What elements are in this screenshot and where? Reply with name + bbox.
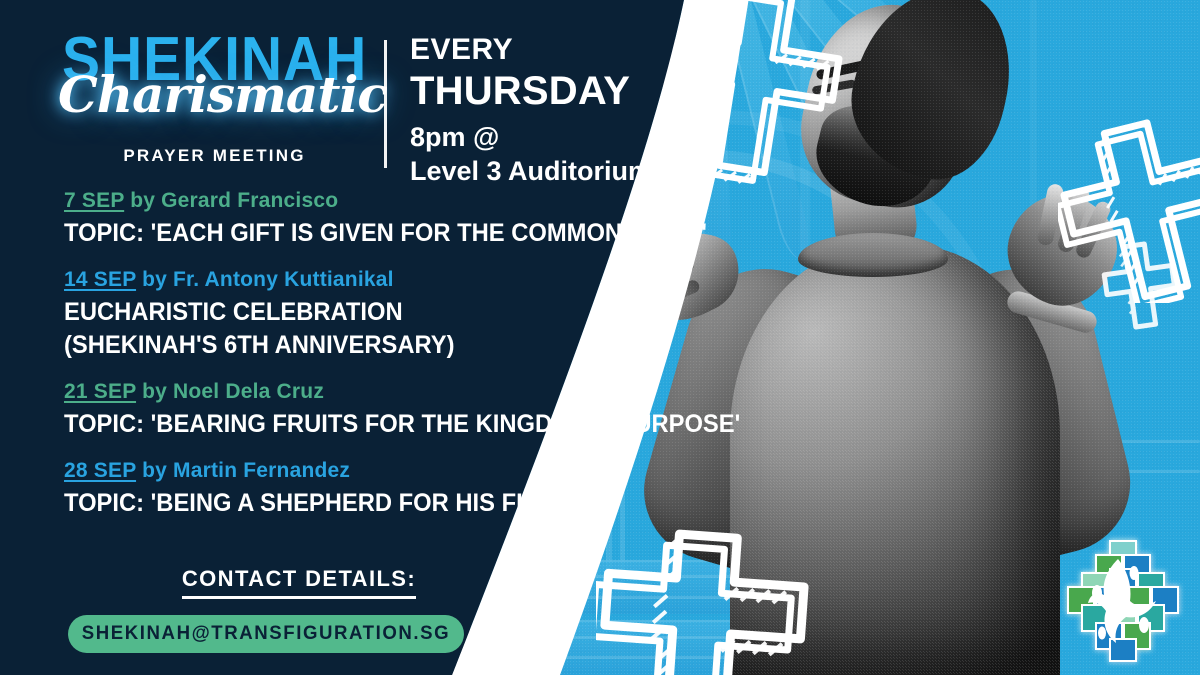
schedule-time: 8pm @ [410, 120, 710, 154]
event-topic: TOPIC: 'EACH GIFT IS GIVEN FOR THE COMMO… [64, 218, 634, 249]
event-item: 21 SEP by Noel Dela Cruz TOPIC: 'BEARING… [64, 377, 664, 440]
transfiguration-logo [1056, 533, 1192, 669]
event-date: 21 SEP [64, 380, 136, 403]
schedule-place: Level 3 Auditorium [410, 154, 710, 188]
event-topic: TOPIC: 'BEARING FRUITS FOR THE KINGDOM'S… [64, 409, 634, 440]
event-date: 7 SEP [64, 189, 124, 212]
event-speaker: by Gerard Francisco [124, 189, 338, 212]
event-speaker: by Fr. Antony Kuttianikal [136, 268, 394, 291]
schedule-block: EVERY THURSDAY 8pm @ Level 3 Auditorium [410, 32, 710, 188]
contact-email-pill[interactable]: SHEKINAH@TRANSFIGURATION.SG [68, 615, 464, 653]
event-item: 28 SEP by Martin Fernandez TOPIC: 'BEING… [64, 456, 664, 519]
contact-section: CONTACT DETAILS: SHEKINAH@TRANSFIGURATIO… [64, 566, 534, 653]
event-list: 7 SEP by Gerard Francisco TOPIC: 'EACH G… [64, 186, 664, 525]
event-date: 14 SEP [64, 268, 136, 291]
left-content-panel: SHEKINAH Charismatic PRAYER MEETING EVER… [0, 0, 660, 675]
schedule-every: EVERY [410, 32, 710, 68]
event-byline: 14 SEP by Fr. Antony Kuttianikal [64, 265, 664, 295]
event-byline: 21 SEP by Noel Dela Cruz [64, 377, 664, 407]
vertical-divider [384, 40, 387, 168]
event-speaker: by Martin Fernandez [136, 459, 350, 482]
event-date: 28 SEP [64, 459, 136, 482]
event-speaker: by Noel Dela Cruz [136, 380, 324, 403]
event-byline: 28 SEP by Martin Fernandez [64, 456, 664, 486]
event-byline: 7 SEP by Gerard Francisco [64, 186, 664, 216]
event-item: 7 SEP by Gerard Francisco TOPIC: 'EACH G… [64, 186, 664, 249]
event-topic-line2: (SHEKINAH'S 6TH ANNIVERSARY) [64, 330, 634, 361]
event-item: 14 SEP by Fr. Antony Kuttianikal EUCHARI… [64, 265, 664, 361]
brand-block: SHEKINAH Charismatic PRAYER MEETING [62, 28, 367, 176]
poster-canvas: SHEKINAH Charismatic PRAYER MEETING EVER… [0, 0, 1200, 675]
brand-and-schedule-row: SHEKINAH Charismatic PRAYER MEETING EVER… [62, 28, 652, 176]
brand-script-title: Charismatic [58, 68, 368, 122]
event-topic-line1: EUCHARISTIC CELEBRATION [64, 297, 634, 328]
brand-subtitle: PRAYER MEETING [62, 146, 367, 166]
contact-label: CONTACT DETAILS: [182, 566, 416, 599]
schedule-day: THURSDAY [410, 68, 710, 114]
event-topic: TOPIC: 'BEING A SHEPHERD FOR HIS FLOCK' [64, 488, 634, 519]
